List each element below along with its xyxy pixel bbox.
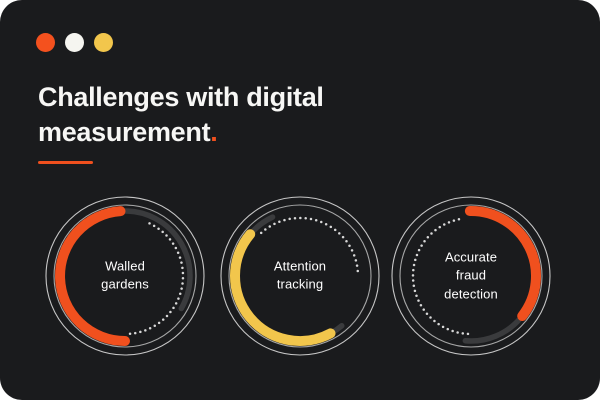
ring-outline-outer	[392, 197, 550, 355]
title-underline-rule	[38, 161, 93, 164]
progress-ring-graphic	[214, 190, 386, 362]
dot-yellow-icon	[94, 33, 113, 52]
ring-outline-outer	[221, 197, 379, 355]
ring-dotted-arc	[412, 218, 469, 335]
progress-ring-graphic	[39, 190, 211, 362]
progress-ring-graphic	[385, 190, 557, 362]
ring-outline-inner	[400, 205, 542, 347]
progress-ring-walled-gardens[interactable]: Walledgardens	[39, 190, 211, 362]
window-dots	[36, 33, 113, 52]
ring-dotted-arc	[260, 217, 359, 272]
dot-white-icon	[65, 33, 84, 52]
dot-orange-icon	[36, 33, 55, 52]
ring-outline-inner	[54, 205, 196, 347]
ring-outline-outer	[46, 197, 204, 355]
progress-ring-accurate-fraud-detection[interactable]: Accuratefrauddetection	[385, 190, 557, 362]
ring-track	[465, 318, 520, 341]
progress-ring-attention-tracking[interactable]: Attentiontracking	[214, 190, 386, 362]
ring-outline-inner	[229, 205, 371, 347]
progress-rings-row: WalledgardensAttentiontrackingAccuratefr…	[0, 190, 600, 362]
page-title-period: .	[210, 117, 217, 147]
slide-card: Challenges with digital measurement. Wal…	[0, 0, 600, 400]
page-title-line-2: measurement	[38, 117, 210, 147]
ring-progress-arc	[470, 211, 536, 316]
page-title: Challenges with digital measurement.	[38, 80, 458, 150]
page-title-line-1: Challenges with digital	[38, 82, 324, 112]
